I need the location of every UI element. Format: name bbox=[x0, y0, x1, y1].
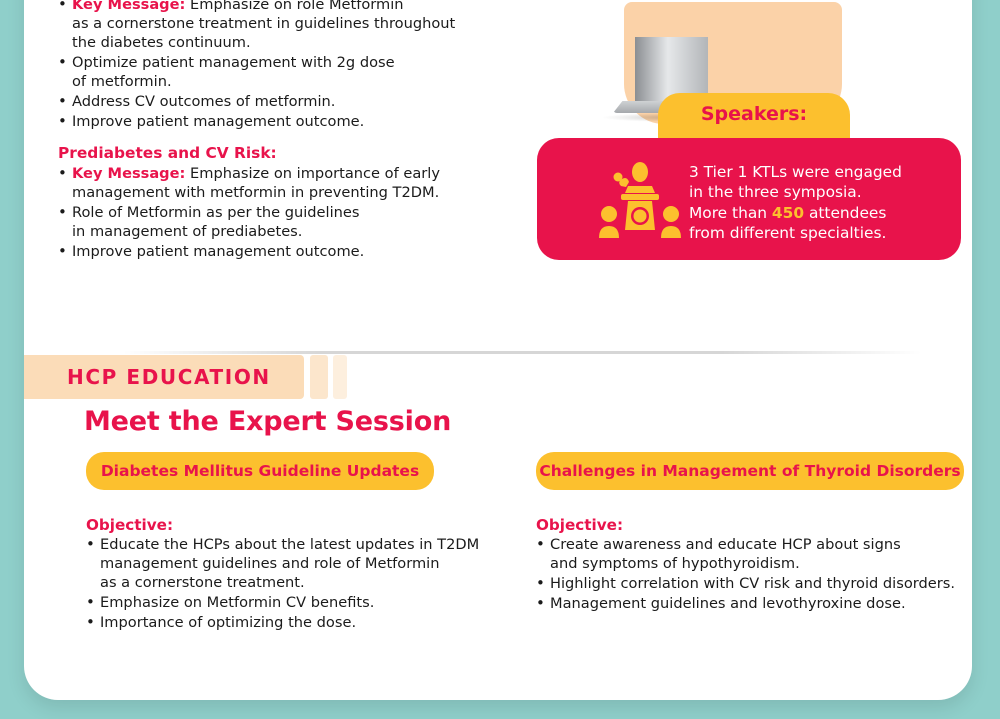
objective-list-left: Educate the HCPs about the latest update… bbox=[86, 536, 486, 633]
infographic-page: Key Message: Emphasize on role Metformin… bbox=[0, 0, 1000, 719]
list-item-text: Address CV outcomes of metformin. bbox=[72, 93, 335, 110]
list-item: Address CV outcomes of metformin. bbox=[58, 93, 508, 112]
section-divider bbox=[122, 351, 922, 354]
list-item: Optimize patient management with 2g dose… bbox=[58, 54, 508, 92]
list-item: Emphasize on Metformin CV benefits. bbox=[86, 594, 486, 613]
tag-decor-block-3 bbox=[333, 355, 347, 399]
key-message-label: Key Message: bbox=[72, 0, 185, 13]
list-item-continuation: and symptoms of hypothyroidism. bbox=[550, 555, 964, 574]
list-item-continuation: the diabetes continuum. bbox=[72, 34, 508, 53]
session-column-left: Diabetes Mellitus Guideline Updates Obje… bbox=[86, 452, 486, 634]
hcp-education-label: HCP EDUCATION bbox=[67, 365, 271, 389]
list-item: Educate the HCPs about the latest update… bbox=[86, 536, 486, 593]
list-item-text: Create awareness and educate HCP about s… bbox=[550, 536, 901, 553]
objective-list-right: Create awareness and educate HCP about s… bbox=[536, 536, 964, 614]
list-item: Role of Metformin as per the guidelinesi… bbox=[58, 204, 508, 242]
white-content-card: Key Message: Emphasize on role Metformin… bbox=[24, 0, 972, 700]
objective-label-left: Objective: bbox=[86, 516, 486, 534]
list-item-text: Improve patient management outcome. bbox=[72, 243, 364, 260]
list-item-text: Improve patient management outcome. bbox=[72, 113, 364, 130]
speakers-line: in the three symposia. bbox=[689, 182, 943, 202]
list-item-text: Highlight correlation with CV risk and t… bbox=[550, 575, 955, 592]
list-item-continuation: as a cornerstone treatment in guidelines… bbox=[72, 15, 508, 34]
list-item-continuation: in management of prediabetes. bbox=[72, 223, 508, 242]
tag-decor-block-2 bbox=[310, 355, 328, 399]
bullet-list-prediabetes: Key Message: Emphasize on importance of … bbox=[58, 165, 508, 262]
prediabetes-subheading: Prediabetes and CV Risk: bbox=[58, 144, 508, 162]
list-item: Management guidelines and levothyroxine … bbox=[536, 595, 964, 614]
list-item-text: Management guidelines and levothyroxine … bbox=[550, 595, 906, 612]
list-item: Create awareness and educate HCP about s… bbox=[536, 536, 964, 574]
list-item-text: Optimize patient management with 2g dose bbox=[72, 54, 395, 71]
page-title: Meet the Expert Session bbox=[84, 406, 451, 437]
session-column-right: Challenges in Management of Thyroid Diso… bbox=[536, 452, 964, 615]
speakers-line: from different specialties. bbox=[689, 223, 943, 243]
monitor-illustration: ☤ Scientific Agenda Organized by: Jordan… bbox=[501, 0, 971, 82]
list-item: Improve patient management outcome. bbox=[58, 113, 508, 132]
podium-speaker-icon bbox=[599, 160, 681, 238]
list-item-continuation: management with metformin in preventing … bbox=[72, 184, 508, 203]
attendee-count: 450 bbox=[772, 204, 804, 222]
list-item-text: Role of Metformin as per the guidelines bbox=[72, 204, 359, 221]
list-item: Improve patient management outcome. bbox=[58, 243, 508, 262]
speakers-line: More than 450 attendees bbox=[689, 203, 943, 223]
list-item: Highlight correlation with CV risk and t… bbox=[536, 575, 964, 594]
list-item: Key Message: Emphasize on role Metformin… bbox=[58, 0, 508, 53]
objective-label-right: Objective: bbox=[536, 516, 964, 534]
list-item-continuation: as a cornerstone treatment. bbox=[100, 574, 486, 593]
key-message-label: Key Message: bbox=[72, 165, 185, 182]
speakers-line: 3 Tier 1 KTLs were engaged bbox=[689, 162, 943, 182]
list-item: Importance of optimizing the dose. bbox=[86, 614, 486, 633]
session-pill-diabetes[interactable]: Diabetes Mellitus Guideline Updates bbox=[86, 452, 434, 490]
metformin-messages-block: Key Message: Emphasize on role Metformin… bbox=[58, 0, 508, 263]
bullet-list-metformin: Key Message: Emphasize on role Metformin… bbox=[58, 0, 508, 132]
list-item-text: Emphasize on role Metformin bbox=[185, 0, 403, 13]
hcp-education-tag: HCP EDUCATION bbox=[24, 355, 304, 399]
list-item-text: Emphasize on importance of early bbox=[185, 165, 440, 182]
session-pill-thyroid[interactable]: Challenges in Management of Thyroid Diso… bbox=[536, 452, 964, 490]
speakers-card: 3 Tier 1 KTLs were engagedin the three s… bbox=[537, 138, 961, 260]
list-item-continuation: of metformin. bbox=[72, 73, 508, 92]
list-item-text: Educate the HCPs about the latest update… bbox=[100, 536, 479, 553]
list-item-continuation: management guidelines and role of Metfor… bbox=[100, 555, 486, 574]
list-item-text: Emphasize on Metformin CV benefits. bbox=[100, 594, 374, 611]
list-item: Key Message: Emphasize on importance of … bbox=[58, 165, 508, 203]
speakers-text: 3 Tier 1 KTLs were engagedin the three s… bbox=[689, 162, 943, 244]
list-item-text: Importance of optimizing the dose. bbox=[100, 614, 356, 631]
